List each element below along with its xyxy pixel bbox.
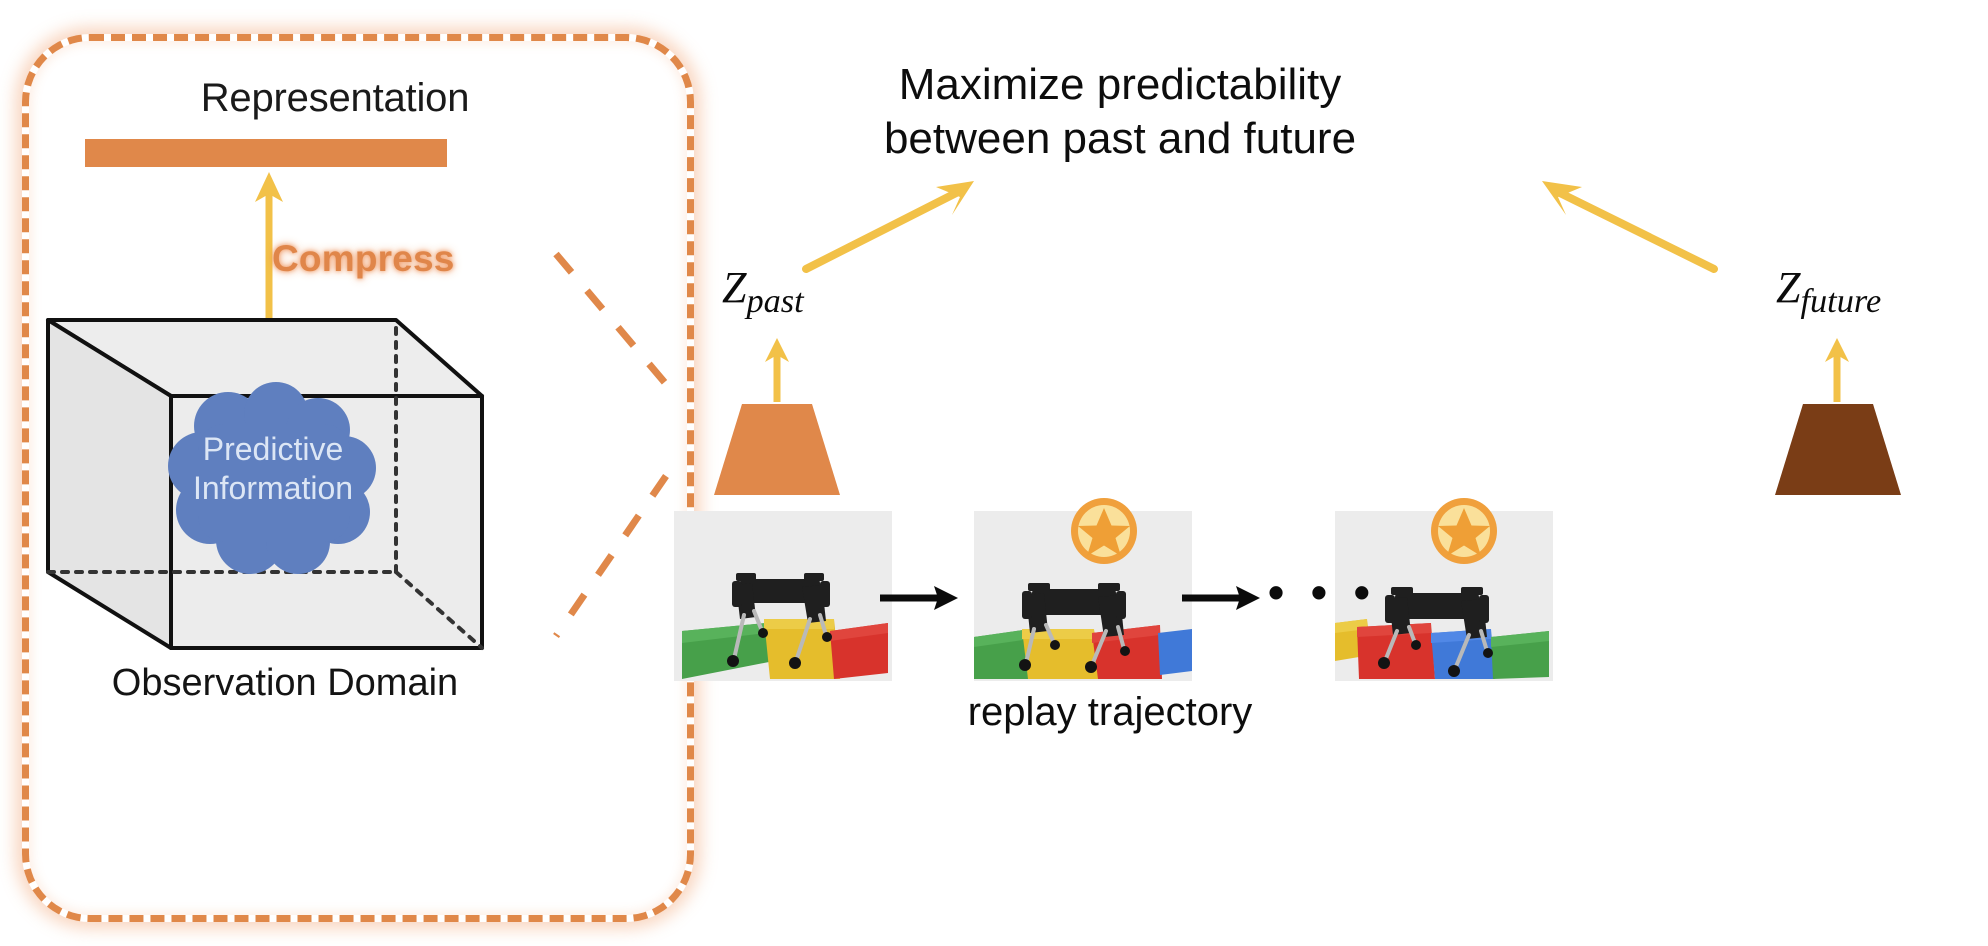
representation-bar — [85, 139, 447, 167]
z-past-sub: past — [746, 282, 803, 320]
cloud-line-2: Information — [158, 469, 388, 508]
encoder-past-trapezoid — [712, 402, 842, 497]
replay-trajectory-label: replay trajectory — [900, 690, 1320, 735]
future-to-headline-arrow-icon — [1520, 175, 1720, 275]
reward-star-badge-2-icon — [1428, 495, 1500, 567]
reward-star-badge-1-icon — [1068, 495, 1140, 567]
transition-arrow-2-icon — [1180, 580, 1262, 616]
ellipsis: • • • — [1268, 565, 1377, 619]
headline-line-2: between past and future — [800, 112, 1440, 166]
encoder-past-output-arrow-icon — [760, 336, 794, 404]
headline: Maximize predictability between past and… — [800, 58, 1440, 166]
frame-past — [674, 511, 892, 681]
headline-line-1: Maximize predictability — [800, 58, 1440, 112]
z-future-label: Zfuture — [1776, 262, 1881, 321]
z-past-label: Zpast — [722, 262, 804, 321]
predictive-information-text: Predictive Information — [158, 430, 388, 508]
encoder-future-trapezoid — [1773, 402, 1903, 497]
observation-domain-label: Observation Domain — [60, 662, 510, 705]
representation-label: Representation — [80, 76, 590, 121]
z-future-sub: future — [1800, 282, 1881, 320]
z-past-base: Z — [722, 263, 746, 312]
cloud-line-1: Predictive — [158, 430, 388, 469]
transition-arrow-1-icon — [878, 580, 960, 616]
z-future-base: Z — [1776, 263, 1800, 312]
compress-label: Compress — [272, 238, 455, 280]
encoder-future-output-arrow-icon — [1820, 336, 1854, 404]
past-to-headline-arrow-icon — [800, 175, 980, 275]
